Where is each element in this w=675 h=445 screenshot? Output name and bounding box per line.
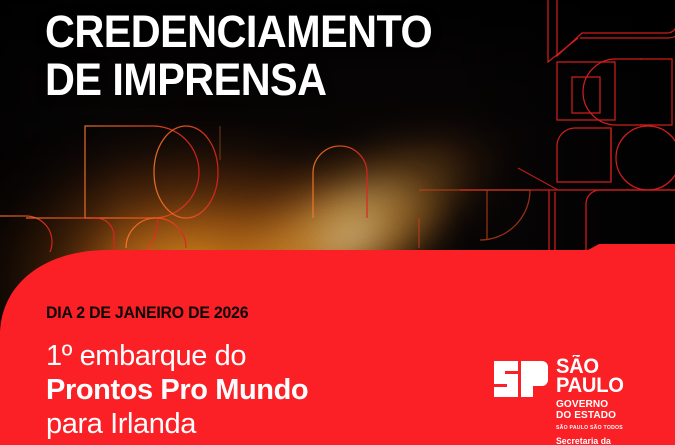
rounded-rect-lower-right — [460, 190, 675, 250]
title-line-2: DE IMPRENSA — [45, 56, 560, 104]
d-shape-left — [85, 126, 199, 218]
press-credential-banner: CREDENCIAMENTO DE IMPRENSA DIA 2 DE JANE… — [0, 0, 675, 445]
logo-name-line-2: PAULO — [556, 376, 624, 395]
logo-gov-line-2: DO ESTADO — [556, 410, 624, 421]
diagonal-accent-line — [518, 168, 558, 190]
sp-logo-text: SÃO PAULO GOVERNO DO ESTADO SÃO PAULO SÃ… — [556, 357, 626, 445]
rounded-square-right — [557, 128, 611, 182]
rect-shape-mid — [300, 190, 380, 248]
lede-line-3: para Irlanda — [46, 407, 308, 441]
circle-shape-right — [616, 126, 675, 190]
sp-monogram-icon — [492, 358, 549, 400]
event-date: DIA 2 DE JANEIRO DE 2026 — [46, 303, 290, 323]
event-lede: 1º embarque do Prontos Pro Mundo para Ir… — [46, 339, 308, 441]
arch-shape-center — [313, 146, 367, 218]
logo-dept-line-1: Secretaria da — [556, 436, 624, 445]
faint-grid-lines — [85, 126, 220, 218]
title-line-1: CREDENCIAMENTO — [45, 8, 560, 56]
sao-paulo-government-logo: SÃO PAULO GOVERNO DO ESTADO SÃO PAULO SÃ… — [492, 357, 626, 445]
lede-line-2: Prontos Pro Mundo — [46, 373, 308, 407]
banner-title: CREDENCIAMENTO DE IMPRENSA — [45, 8, 605, 104]
lede-line-1: 1º embarque do — [46, 339, 308, 373]
logo-tagline: SÃO PAULO SÃO TODOS — [556, 424, 624, 432]
arc-shape-right-faint — [419, 190, 530, 248]
event-details: DIA 2 DE JANEIRO DE 2026 1º embarque do … — [46, 303, 308, 441]
